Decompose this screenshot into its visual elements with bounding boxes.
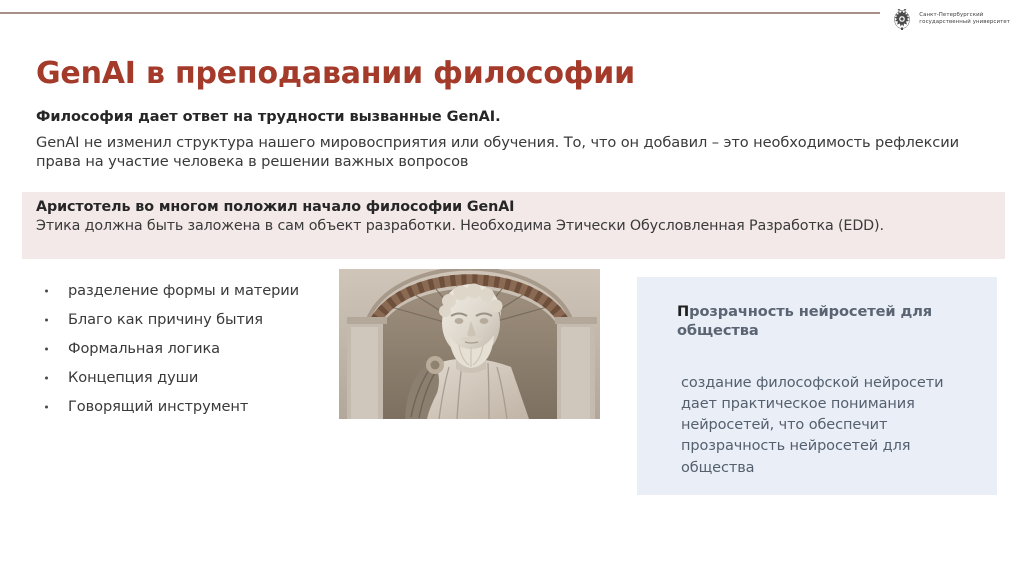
bullet-dot-icon xyxy=(45,289,48,292)
bullet-dot-icon xyxy=(45,405,48,408)
list-item-label: Говорящий инструмент xyxy=(68,398,248,415)
aristotle-callout-title: Аристотель во многом положил начало фило… xyxy=(36,199,986,215)
list-item: Концепция души xyxy=(36,363,336,392)
intro-block: Философия дает ответ на трудности вызван… xyxy=(36,109,986,172)
header-divider-rule xyxy=(0,12,880,14)
bullet-dot-icon xyxy=(45,347,48,350)
list-item-label: Концепция души xyxy=(68,369,198,386)
transparency-callout-body: создание философской нейросети дает прак… xyxy=(681,373,981,479)
transparency-callout-panel: Прозрачность нейросетей для общества соз… xyxy=(637,277,997,495)
slide-title: GenAI в преподавании философии xyxy=(36,56,635,91)
aristotle-callout-body: Этика должна быть заложена в сам объект … xyxy=(36,217,986,236)
aristotle-callout-panel: Аристотель во многом положил начало фило… xyxy=(22,192,1005,259)
list-item: Говорящий инструмент xyxy=(36,392,336,421)
list-item: Формальная логика xyxy=(36,334,336,363)
transparency-callout-title-capital: П xyxy=(677,303,689,320)
aristotle-callout-content: Аристотель во многом положил начало фило… xyxy=(36,199,986,236)
university-logo: Санкт-Петербургский государственный унив… xyxy=(891,6,1010,32)
aristotle-bust-illustration xyxy=(339,269,600,419)
aristotle-bust-photo xyxy=(339,269,600,419)
bullet-dot-icon xyxy=(45,318,48,321)
university-logo-text: Санкт-Петербургский государственный унив… xyxy=(919,12,1010,26)
slide-root: Санкт-Петербургский государственный унив… xyxy=(0,0,1024,576)
double-headed-eagle-crest-icon xyxy=(891,7,913,31)
intro-body-text: GenAI не изменил структура нашего мирово… xyxy=(36,133,986,172)
university-logo-line2: государственный университет xyxy=(919,19,1010,26)
list-item-label: разделение формы и материи xyxy=(68,282,299,299)
list-item: разделение формы и материи xyxy=(36,276,336,305)
university-logo-line1: Санкт-Петербургский xyxy=(919,12,1010,19)
transparency-callout-title-rest: розрачность нейросетей для общества xyxy=(677,303,932,339)
aristotle-contributions-list: разделение формы и материи Благо как при… xyxy=(36,276,336,421)
transparency-callout-title: Прозрачность нейросетей для общества xyxy=(677,303,977,340)
list-item-label: Формальная логика xyxy=(68,340,220,357)
bullet-dot-icon xyxy=(45,376,48,379)
list-item-label: Благо как причину бытия xyxy=(68,311,263,328)
intro-lead-text: Философия дает ответ на трудности вызван… xyxy=(36,109,986,125)
list-item: Благо как причину бытия xyxy=(36,305,336,334)
